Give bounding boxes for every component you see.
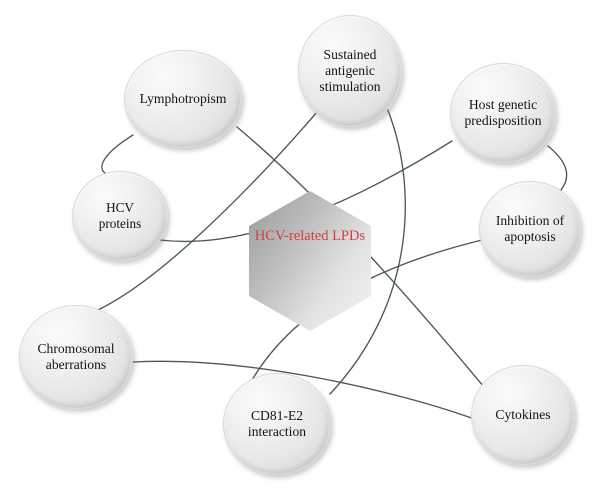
node-chromosomal-aberrations[interactable]: Chromosomal aberrations xyxy=(19,305,133,409)
diagram-canvas: HCV-related LPDs Lymphotropism Sustained… xyxy=(0,0,600,501)
node-label-inhibition-of-apoptosis: Inhibition of apoptosis xyxy=(492,213,568,246)
center-hexagon xyxy=(249,191,371,331)
node-lymphotropism[interactable]: Lymphotropism xyxy=(124,50,242,148)
node-hcv-proteins[interactable]: HCV proteins xyxy=(72,171,168,261)
node-label-hcv-proteins: HCV proteins xyxy=(95,200,146,232)
node-label-chromosomal-aberrations: Chromosomal aberrations xyxy=(33,341,118,374)
node-cytokines[interactable]: Cytokines xyxy=(471,365,575,465)
node-label-sustained-antigenic-stimulation: Sustained antigenic stimulation xyxy=(315,47,384,96)
node-host-genetic-predisposition[interactable]: Host genetic predisposition xyxy=(450,63,556,163)
node-inhibition-of-apoptosis[interactable]: Inhibition of apoptosis xyxy=(479,181,581,277)
node-sustained-antigenic-stimulation[interactable]: Sustained antigenic stimulation xyxy=(298,15,402,127)
node-cd81-e2-interaction[interactable]: CD81-E2 interaction xyxy=(223,373,331,475)
node-label-host-genetic-predisposition: Host genetic predisposition xyxy=(460,97,545,130)
center-hexagon-label: HCV-related LPDs xyxy=(245,228,375,246)
node-label-cd81-e2-interaction: CD81-E2 interaction xyxy=(244,408,310,441)
node-label-cytokines: Cytokines xyxy=(491,407,554,423)
node-label-lymphotropism: Lymphotropism xyxy=(136,91,231,107)
